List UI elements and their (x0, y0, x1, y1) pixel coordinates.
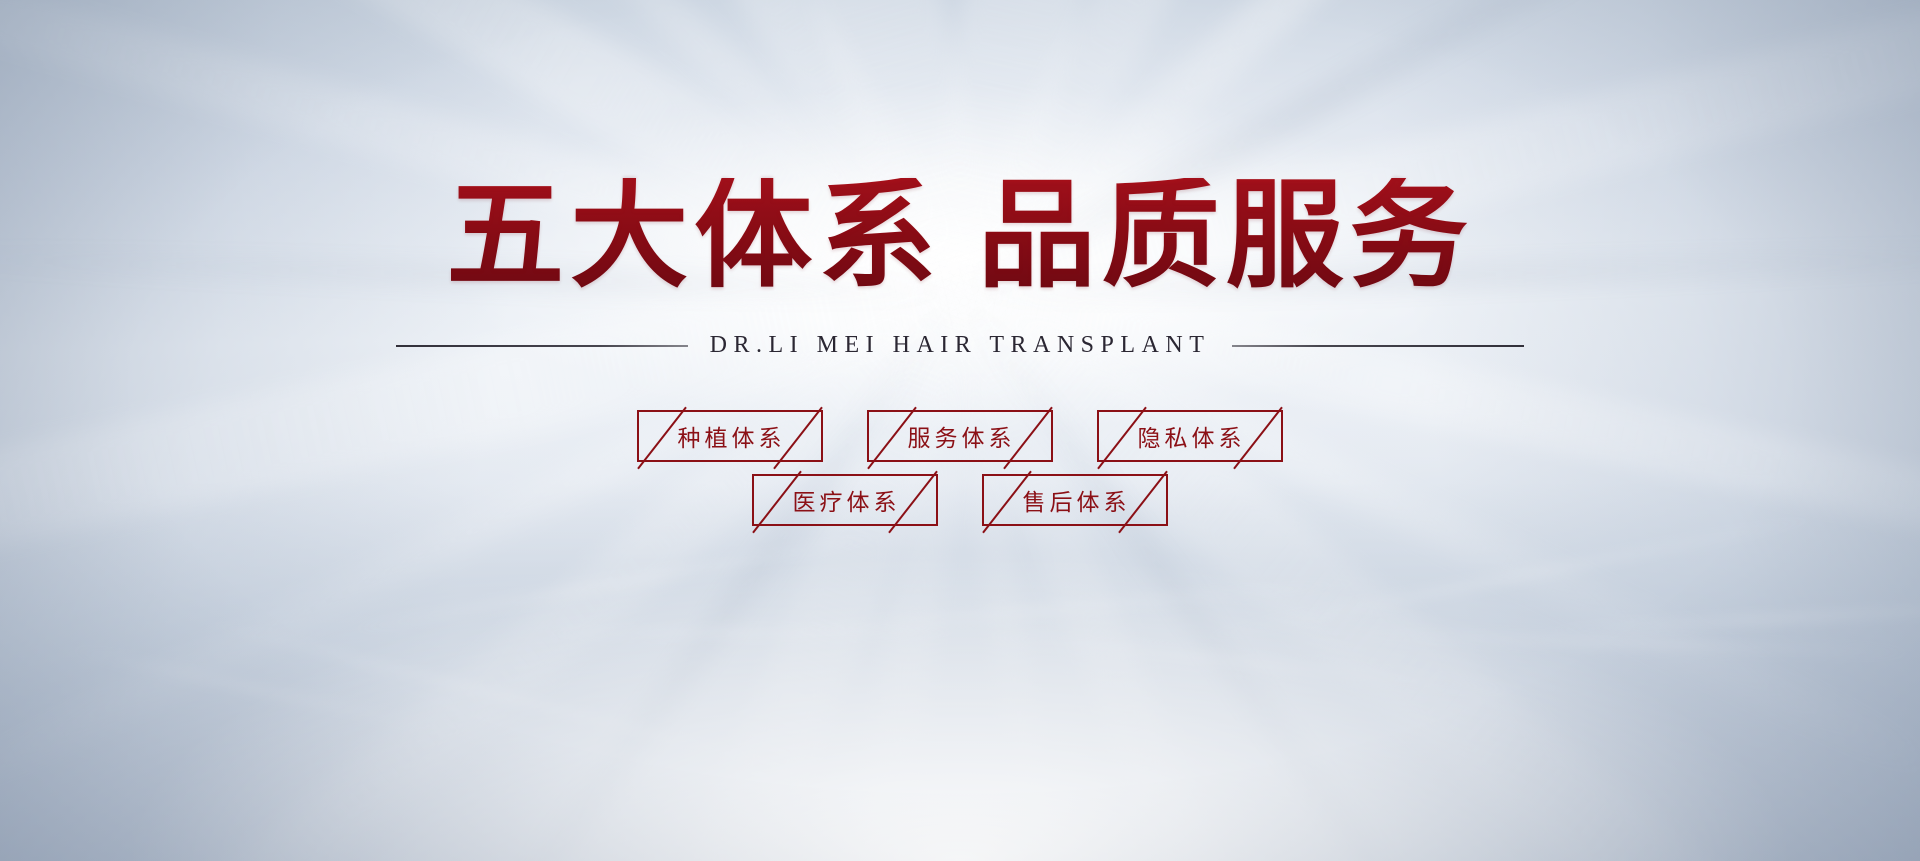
system-tag-planting[interactable]: 种植体系 (637, 410, 823, 462)
subtitle-rule-right (1232, 345, 1524, 347)
banner-content: 五大体系 品质服务 DR.LI MEI HAIR TRANSPLANT 种植体系… (0, 0, 1920, 861)
system-tag-row-2: 医疗体系 售后体系 (752, 474, 1168, 526)
page-title: 五大体系 品质服务 (0, 178, 1920, 296)
system-tag-service[interactable]: 服务体系 (867, 410, 1053, 462)
system-tag-label: 隐私体系 (1135, 419, 1246, 453)
system-tag-label: 服务体系 (905, 419, 1016, 453)
banner-stage: 五大体系 品质服务 DR.LI MEI HAIR TRANSPLANT 种植体系… (0, 0, 1920, 861)
system-tag-privacy[interactable]: 隐私体系 (1097, 410, 1283, 462)
system-tag-label: 种植体系 (675, 419, 786, 453)
system-tag-row-1: 种植体系 服务体系 隐私体系 (637, 410, 1283, 462)
system-tag-medical[interactable]: 医疗体系 (752, 474, 938, 526)
system-tag-aftersales[interactable]: 售后体系 (982, 474, 1168, 526)
system-tag-label: 医疗体系 (790, 483, 901, 517)
subtitle-rule-left (396, 345, 688, 347)
system-tag-label: 售后体系 (1020, 483, 1131, 517)
subtitle-text: DR.LI MEI HAIR TRANSPLANT (710, 332, 1211, 359)
subtitle: DR.LI MEI HAIR TRANSPLANT (0, 332, 1920, 359)
system-tag-groups: 种植体系 服务体系 隐私体系 医疗体系 (0, 410, 1920, 526)
